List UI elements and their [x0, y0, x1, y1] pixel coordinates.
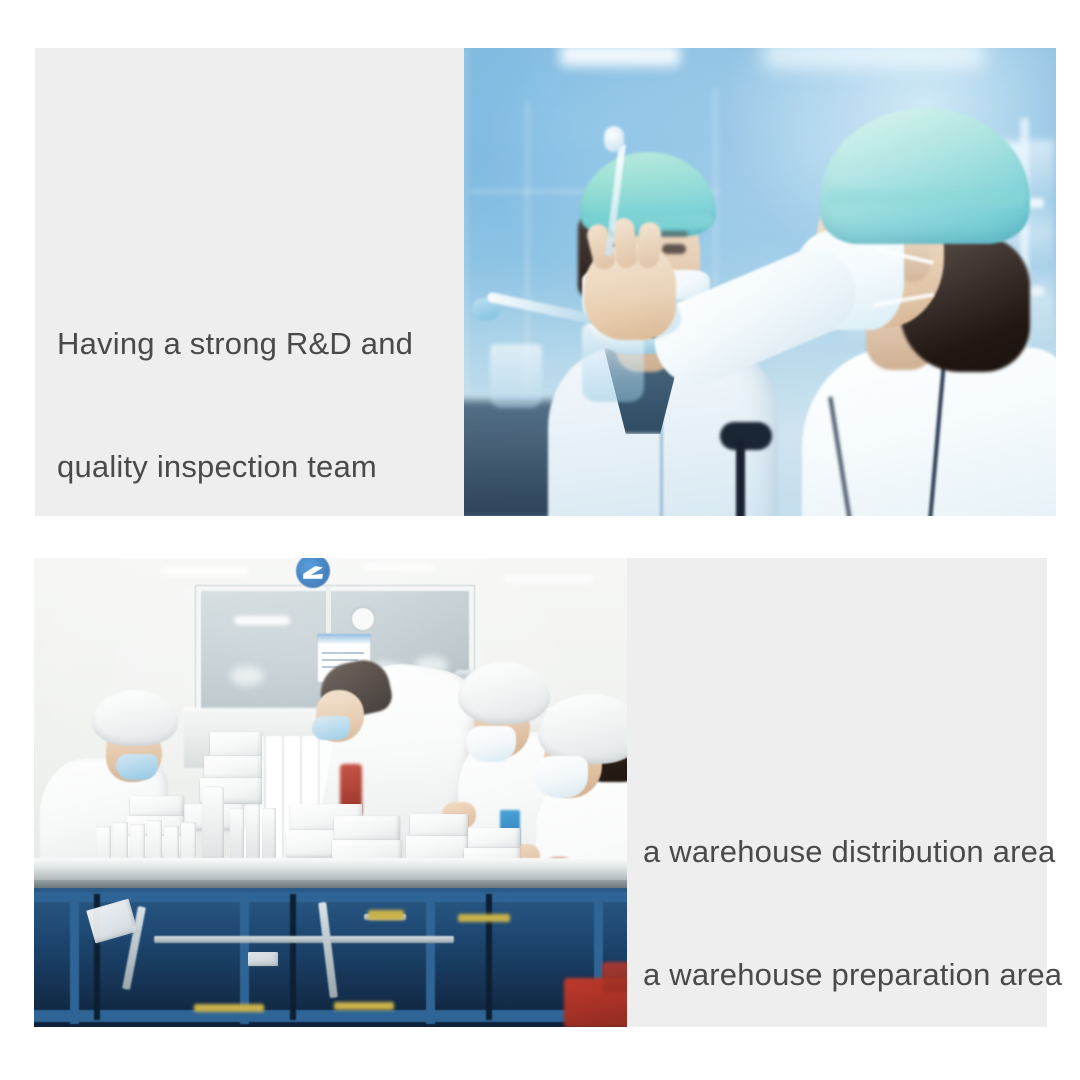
worker-1-face-mask	[116, 754, 158, 780]
ceiling-light-icon	[504, 576, 594, 582]
window-light-reflection	[234, 616, 290, 625]
ceiling-light-icon	[560, 48, 680, 66]
glass-beaker	[490, 344, 542, 408]
yellow-marking	[458, 914, 510, 922]
upright-carton	[262, 808, 276, 862]
yellow-marking	[368, 910, 404, 920]
worker-a-eyebrow	[660, 231, 688, 237]
worker-1-hairnet	[92, 690, 178, 746]
upright-carton	[230, 808, 244, 862]
red-bin	[602, 962, 627, 992]
table-support	[486, 894, 492, 1020]
yellow-marking	[194, 1004, 264, 1012]
worker-2-face-mask	[312, 716, 350, 740]
lab-stand-head	[720, 422, 772, 450]
table-frame-leg	[426, 894, 435, 1024]
poster-text-line	[322, 659, 358, 661]
carton	[130, 796, 184, 818]
worker-3-face-mask	[466, 726, 516, 762]
carton	[334, 816, 400, 842]
carton	[468, 828, 520, 850]
top-caption-line-1: Having a strong R&D and	[57, 323, 413, 364]
finger	[636, 221, 661, 268]
worker-3-hairnet	[458, 662, 550, 724]
glass-instrument-tip	[604, 126, 624, 152]
yellow-marking	[334, 1002, 394, 1010]
window-reflection	[230, 666, 264, 686]
table-frame-leg	[70, 894, 79, 1024]
lab-quality-inspection-photo	[464, 48, 1056, 516]
wall-clock-icon	[350, 606, 376, 632]
upright-carton	[246, 804, 260, 862]
page-root: Having a strong R&D and quality inspecti…	[0, 0, 1080, 1080]
ceiling-light-icon	[364, 564, 434, 570]
bottom-caption-line-2: a warehouse preparation area	[643, 954, 1062, 995]
table-frame-bar	[34, 1010, 627, 1022]
top-caption-line-2: quality inspection team	[57, 446, 413, 487]
white-bottle	[202, 786, 224, 858]
carton	[410, 814, 468, 838]
table-support	[290, 894, 296, 1020]
bottom-caption: a warehouse distribution area a warehous…	[643, 749, 1062, 1077]
worker-a-eye	[662, 244, 686, 254]
carton	[204, 756, 262, 780]
ceiling-light-icon	[162, 568, 248, 575]
steel-table-edge	[34, 880, 627, 888]
worker-4-face-mask	[534, 756, 588, 798]
top-caption: Having a strong R&D and quality inspecti…	[57, 241, 413, 569]
worker-b-lab-coat	[802, 348, 1056, 516]
ceiling-light-icon	[764, 48, 984, 68]
bottom-caption-line-1: a warehouse distribution area	[643, 831, 1062, 872]
carton-under-table	[248, 952, 278, 966]
warehouse-packing-photo	[34, 558, 627, 1027]
steel-rod	[154, 936, 454, 943]
lab-stand-pole	[736, 440, 745, 516]
poster-text-line	[322, 652, 364, 654]
carton	[210, 732, 262, 758]
worker-b-hairnet-band	[824, 190, 1026, 206]
